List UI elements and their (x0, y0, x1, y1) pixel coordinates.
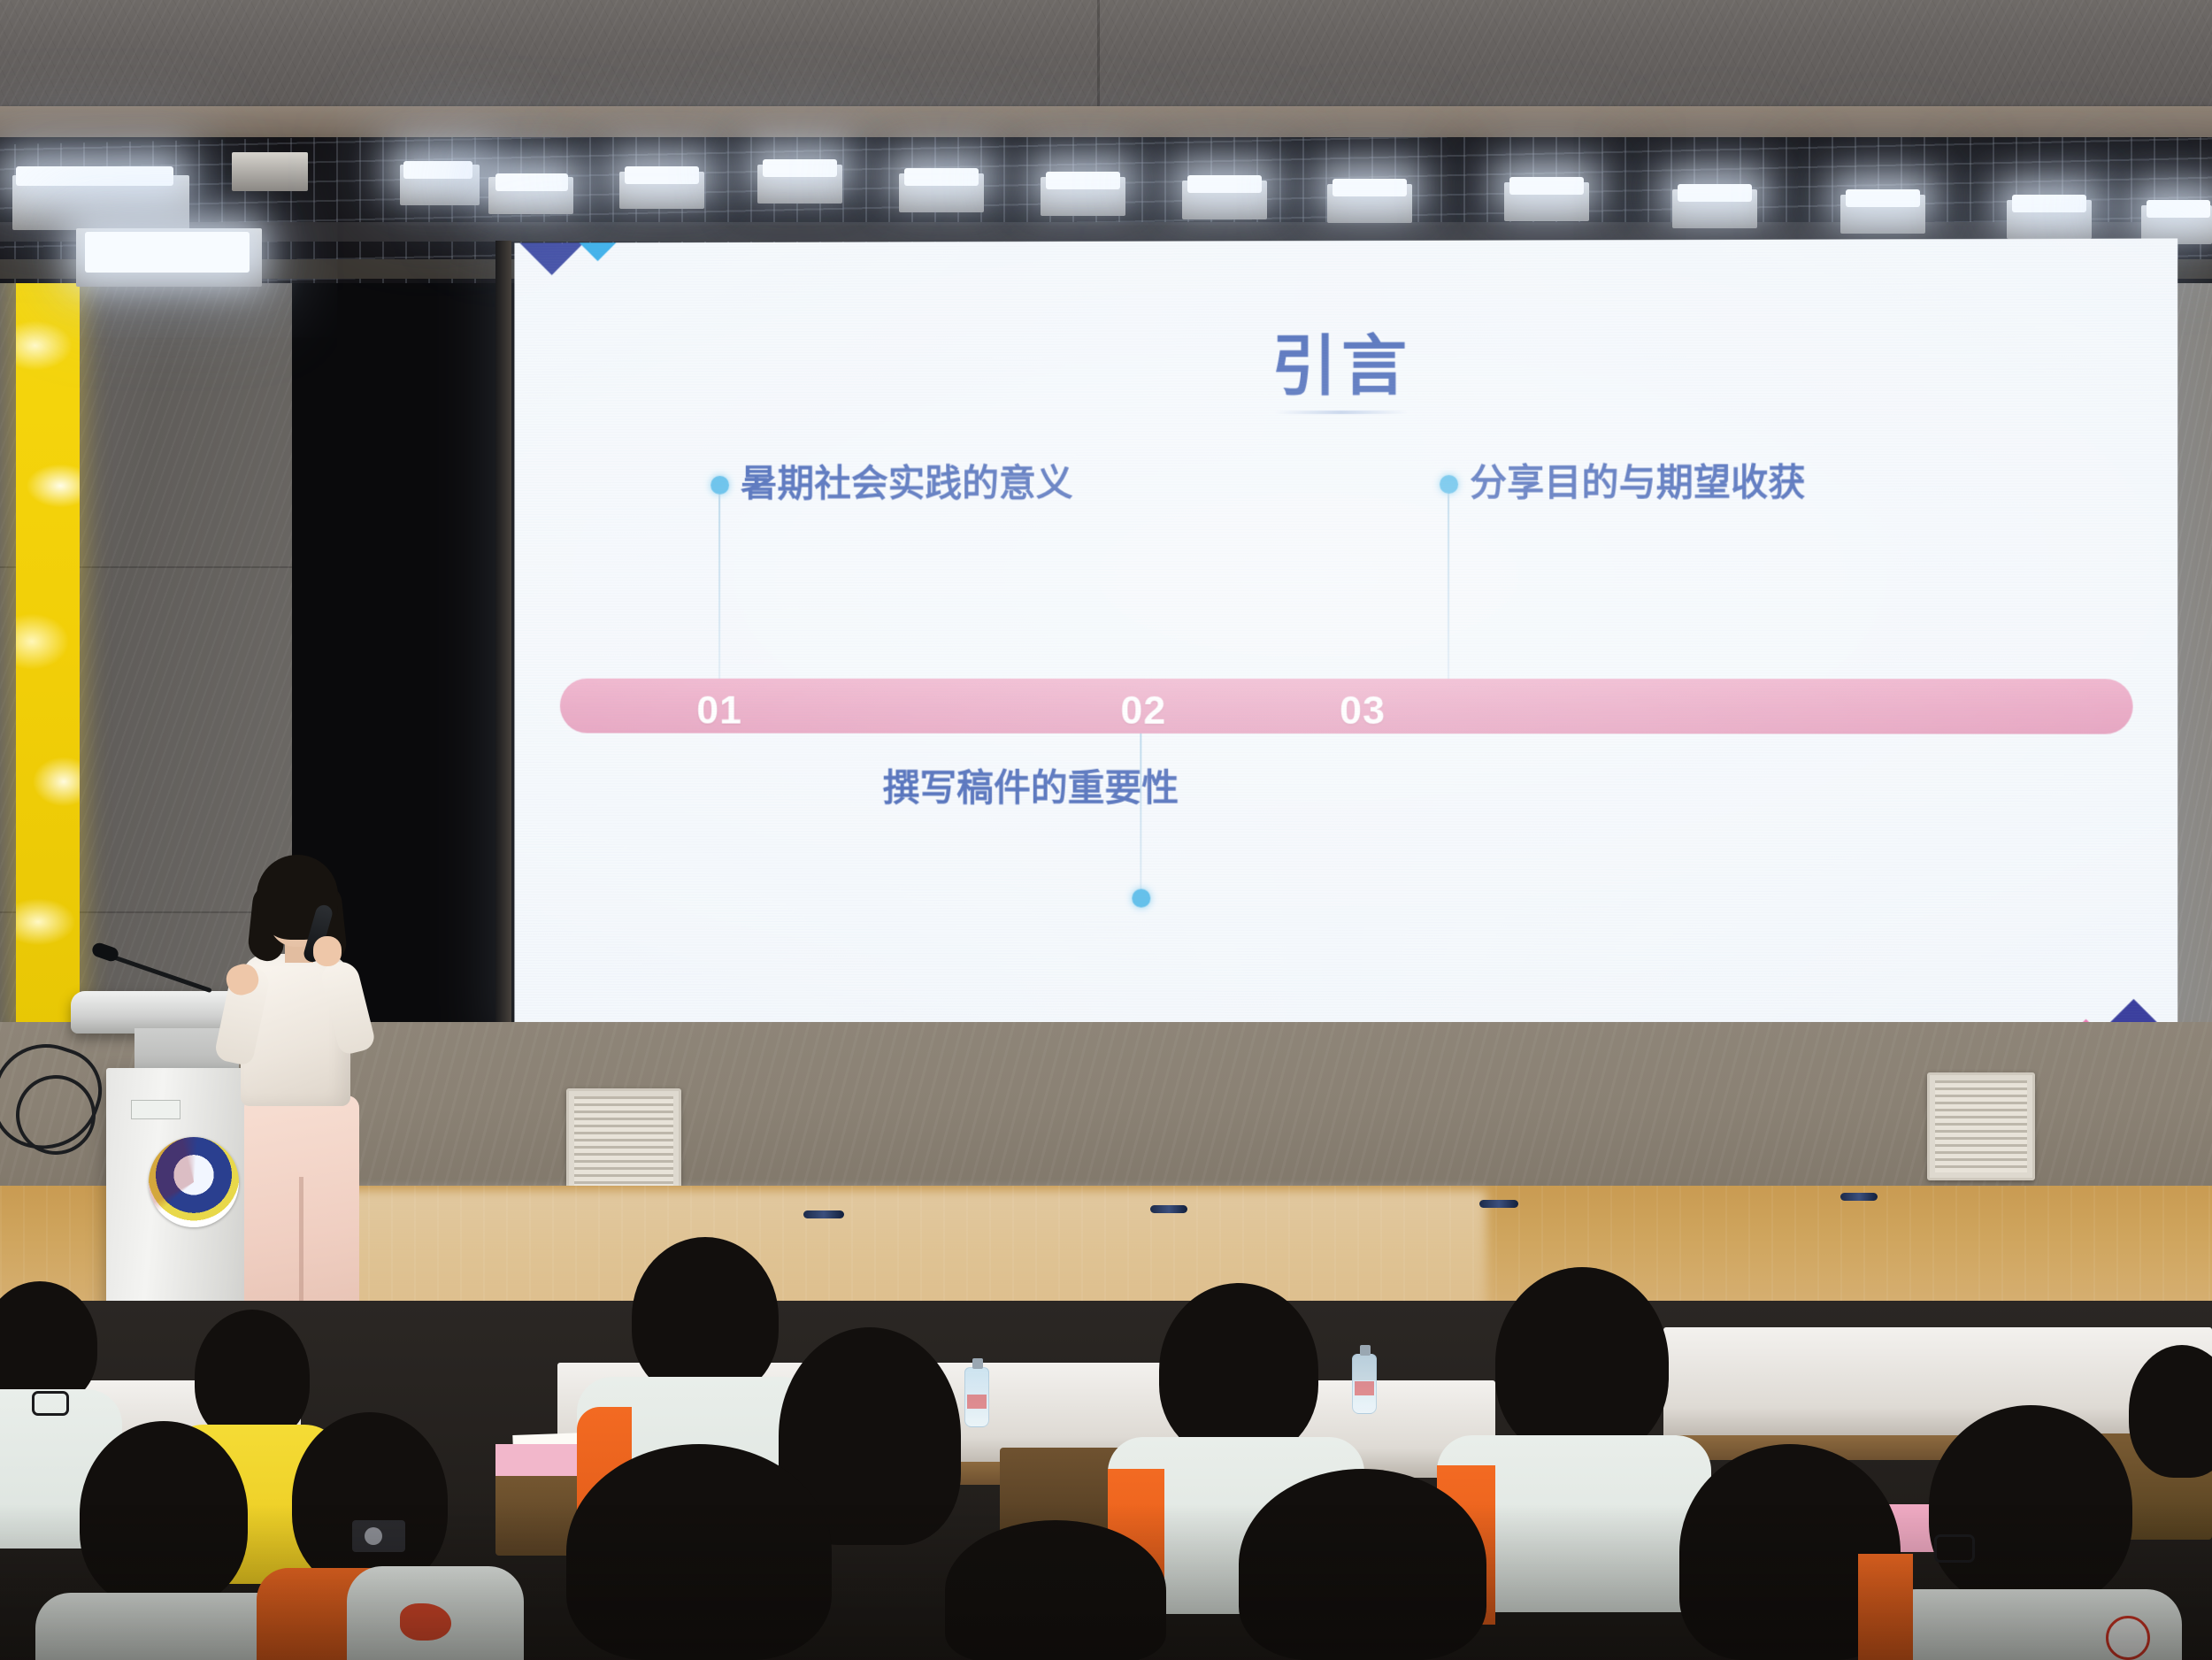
page-title: 引言 (514, 311, 2177, 410)
backlit-yellow-onyx-panel (16, 252, 80, 1031)
speaker-hand-right (313, 936, 342, 966)
ceiling-spotlight (904, 168, 979, 186)
water-bottle (964, 1367, 989, 1427)
timeline-number-01: 01 (696, 688, 742, 734)
title-underline (1275, 411, 1408, 414)
emblem-ring-text (149, 1137, 239, 1227)
timeline-connector-03 (1448, 494, 1449, 681)
timeline-dot-03 (1440, 475, 1458, 494)
audience-head (632, 1237, 779, 1398)
audience-head (1495, 1267, 1669, 1458)
ceiling-spotlight (1333, 179, 1407, 196)
audience-head (1159, 1283, 1318, 1458)
timeline-number-02: 02 (1120, 688, 1166, 734)
light-housing (232, 152, 308, 191)
ceiling-spotlight (1846, 189, 1920, 207)
screen-left-bezel (495, 241, 511, 1037)
timeline-label-02: 撰写稿件的重要性 (883, 758, 1179, 812)
timeline-label-03: 分享目的与期望收获 (1470, 452, 1805, 507)
ceiling-spotlight (625, 166, 699, 184)
stage-cable-connector (803, 1210, 844, 1218)
stage-cable-connector (1479, 1200, 1518, 1208)
auditorium-scene: 引言 暑期社会实践的意义 分享目的与期望收获 01 02 03 撰写稿件的重要性 (0, 0, 2212, 1660)
timeline-dot-01 (710, 476, 729, 495)
ceiling-spotlight (495, 173, 568, 191)
audience-head (195, 1310, 310, 1442)
ceiling-spotlight (2012, 195, 2086, 212)
podium-label-plate (131, 1100, 180, 1119)
stage-cable-connector (1840, 1193, 1878, 1201)
ceiling-spotlight (403, 161, 472, 179)
foreground-vignette (0, 1504, 2212, 1660)
ceiling-spotlight (1678, 184, 1752, 202)
wall-vent-left (566, 1088, 681, 1202)
timeline-label-01: 暑期社会实践的意义 (741, 453, 1073, 507)
proscenium-upper-wall (0, 0, 2212, 111)
stage-cable-connector (1150, 1205, 1187, 1213)
ceiling-spotlight (16, 166, 173, 186)
ceiling-spotlight (1187, 175, 1262, 193)
projection-screen[interactable]: 引言 暑期社会实践的意义 分享目的与期望收获 01 02 03 撰写稿件的重要性 (514, 238, 2177, 1039)
proscenium-beam (0, 106, 2212, 142)
ceiling-spotlight (1509, 177, 1584, 195)
wall-vent-right (1927, 1072, 2035, 1180)
ceiling-spotlight (763, 159, 837, 177)
ceiling-spotlight (1046, 172, 1120, 189)
ceiling-spotlight (85, 232, 250, 273)
university-emblem (149, 1137, 239, 1227)
timeline-number-03: 03 (1340, 688, 1386, 734)
slide-decoration-bottom-right (1890, 780, 2177, 1040)
water-bottle (1352, 1354, 1377, 1414)
timeline-connector-01 (718, 495, 720, 681)
timeline-dot-02 (1132, 889, 1150, 908)
eyeglasses (32, 1391, 69, 1416)
timeline-connector-02 (1140, 734, 1141, 891)
ceiling-spotlight (2147, 200, 2210, 218)
